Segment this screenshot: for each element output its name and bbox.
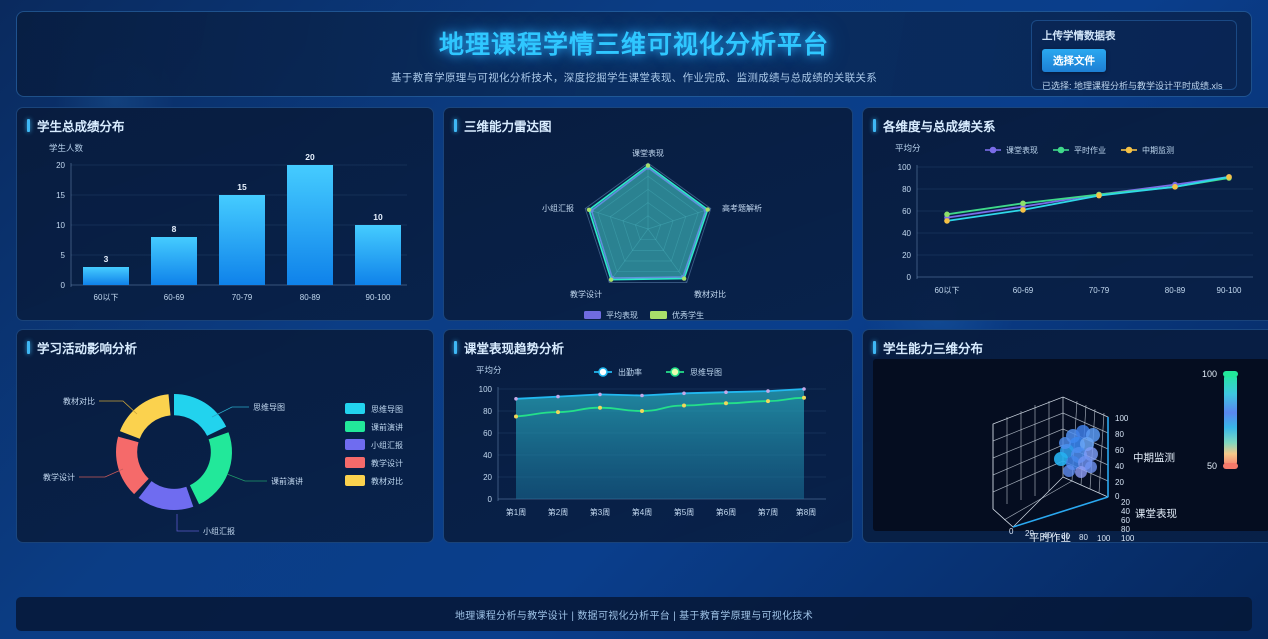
plot-scatter3d[interactable]: 100 80 60 40 20 0 20 40 60 80 100 0 20 4… <box>873 359 1268 537</box>
xcat-0: 60以下 <box>935 286 960 295</box>
upload-panel: 上传学情数据表 选择文件 已选择: 地理课程分析与教学设计平时成绩.xls <box>1031 20 1237 90</box>
legend-swatch-3 <box>345 457 365 468</box>
plot-dimension-relation[interactable]: 平均分 课堂表现 平时作业 中期监测 <box>873 137 1268 315</box>
ytick-10: 10 <box>56 221 65 230</box>
donut-segment-2[interactable] <box>139 481 194 510</box>
ytick-40: 40 <box>902 229 911 238</box>
xcat-1: 60-69 <box>164 293 185 302</box>
ztick-0: 0 <box>1115 492 1120 501</box>
xcat-2: 70-79 <box>232 293 253 302</box>
accent-bar-icon <box>454 119 457 132</box>
card-activity-impact: 学习活动影响分析 思维导图 课前演讲 <box>16 329 434 543</box>
colorbar-min-label: 50 <box>1207 461 1217 471</box>
xcat-6: 第7周 <box>758 507 778 517</box>
xcat-0: 第1周 <box>506 507 526 517</box>
legend-label-average: 平均表现 <box>606 310 638 320</box>
card-title-radar: 三维能力雷达图 <box>454 116 842 135</box>
donut-label-0: 思维导图 <box>253 402 285 412</box>
ztick-20: 20 <box>1115 478 1124 487</box>
ztick-40: 40 <box>1115 462 1124 471</box>
xcat-2: 70-79 <box>1089 286 1110 295</box>
legend-swatch-1 <box>345 421 365 432</box>
legend-label-excellent: 优秀学生 <box>672 310 704 320</box>
accent-bar-icon <box>27 341 30 354</box>
donut-label-1: 课前演讲 <box>271 476 303 486</box>
ytick-80: 80 <box>902 185 911 194</box>
xcat-3: 第4周 <box>632 507 652 517</box>
plot-grade-distribution[interactable]: 学生人数 20 15 10 5 0 <box>27 137 423 315</box>
bar-label-3: 20 <box>305 152 315 162</box>
bar-4[interactable] <box>355 225 401 285</box>
radar-legend: 平均表现 优秀学生 <box>584 310 704 320</box>
ytick-60: 60 <box>1121 516 1130 525</box>
donut-label-3: 教学设计 <box>43 472 75 482</box>
plot-trend[interactable]: 平均分 出勤率 思维导图 <box>454 359 842 537</box>
legend-label-2: 小组汇报 <box>371 440 403 450</box>
ytick-20: 20 <box>902 251 911 260</box>
xcat-4: 第5周 <box>674 507 694 517</box>
card-scatter3d: 学生能力三维分布 <box>862 329 1268 543</box>
bar-label-2: 15 <box>237 182 247 192</box>
legend-dimension: 课堂表现 平时作业 中期监测 <box>985 145 1174 155</box>
y-axis-title: 课堂表现 <box>1135 507 1177 520</box>
card-title-trend: 课堂表现趋势分析 <box>454 338 842 357</box>
ytick-20: 20 <box>483 473 492 482</box>
xcat-4: 90-100 <box>1217 286 1242 295</box>
ytick-20: 20 <box>1121 498 1130 507</box>
x-categories: 60以下 60-69 70-79 80-89 90-100 <box>94 293 391 302</box>
ztick-80: 80 <box>1115 430 1124 439</box>
legend-label-0: 课堂表现 <box>1006 145 1038 155</box>
ytick-15: 15 <box>56 191 65 200</box>
x-axis-title: 平时作业 <box>1029 532 1071 543</box>
radar-series-excellent <box>587 163 710 282</box>
donut-segment-1[interactable] <box>190 432 232 504</box>
y-axis-label: 学生人数 <box>49 143 84 153</box>
bar-3[interactable] <box>287 165 333 285</box>
legend-trend: 出勤率 思维导图 <box>594 367 722 377</box>
legend-label-0: 思维导图 <box>371 404 403 414</box>
legend-label-0: 出勤率 <box>618 367 642 377</box>
ytick-100: 100 <box>898 163 912 172</box>
xtick-0: 0 <box>1009 527 1014 536</box>
legend-marker-0 <box>990 147 997 154</box>
bar-label-4: 10 <box>373 212 383 222</box>
bar-label-0: 3 <box>104 254 109 264</box>
donut-label-2: 小组汇报 <box>203 526 235 536</box>
legend-marker-1 <box>1058 147 1065 154</box>
card-dimension-relation: 各维度与总成绩关系 平均分 课堂表现 平时作业 中期监测 <box>862 107 1268 321</box>
radar-axis-3: 教学设计 <box>570 289 602 299</box>
dashboard-page: 地理课程学情三维可视化分析平台 基于教育学原理与可视化分析技术，深度挖掘学生课堂… <box>0 0 1268 639</box>
radar-axis-2: 教材对比 <box>694 289 726 299</box>
bar-2[interactable] <box>219 195 265 285</box>
card-grade-distribution: 学生总成绩分布 学生人数 20 15 10 5 <box>16 107 434 321</box>
selected-file-text: 已选择: 地理课程分析与教学设计平时成绩.xls <box>1042 79 1226 92</box>
area-fill <box>516 389 804 499</box>
card-title-grade-distribution: 学生总成绩分布 <box>27 116 423 135</box>
donut-segment-0[interactable] <box>174 394 226 436</box>
page-footer: 地理课程分析与教学设计 | 数据可视化分析平台 | 基于教育学原理与可视化技术 <box>16 597 1252 631</box>
xcat-5: 第6周 <box>716 507 736 517</box>
radar-axis-0: 课堂表现 <box>632 148 664 158</box>
card-title-activity-impact: 学习活动影响分析 <box>27 338 423 357</box>
xcat-7: 第8周 <box>796 507 816 517</box>
card-title-text: 三维能力雷达图 <box>464 116 552 135</box>
ytick-100: 100 <box>1121 534 1135 543</box>
legend-label-3: 教学设计 <box>371 458 403 468</box>
ytick-100: 100 <box>479 385 493 394</box>
accent-bar-icon <box>27 119 30 132</box>
card-title-text: 学生能力三维分布 <box>883 338 983 357</box>
donut-segment-4[interactable] <box>120 394 171 438</box>
y-axis-label: 平均分 <box>476 365 502 375</box>
ytick-80: 80 <box>1121 525 1130 534</box>
charts-grid: 学生总成绩分布 学生人数 20 15 10 5 <box>16 107 1252 543</box>
legend-label-1: 平时作业 <box>1074 145 1106 155</box>
ztick-60: 60 <box>1115 446 1124 455</box>
xcat-1: 60-69 <box>1013 286 1034 295</box>
plot-radar[interactable]: 课堂表现 高考题解析 教材对比 教学设计 小组汇报 平均表现 优秀学生 <box>454 137 842 315</box>
legend-swatch-0 <box>345 403 365 414</box>
ztick-100: 100 <box>1115 414 1129 423</box>
legend-label-1: 思维导图 <box>690 367 722 377</box>
radar-axis-1: 高考题解析 <box>722 203 762 213</box>
card-radar: 三维能力雷达图 <box>443 107 853 321</box>
line-series-midterm <box>944 174 1232 224</box>
xcat-0: 60以下 <box>94 293 119 302</box>
card-title-text: 学习活动影响分析 <box>37 338 137 357</box>
bar-1[interactable] <box>151 237 197 285</box>
legend-swatch-4 <box>345 475 365 486</box>
legend-label-1: 课前演讲 <box>371 422 403 432</box>
card-title-text: 学生总成绩分布 <box>37 116 125 135</box>
ytick-80: 80 <box>483 407 492 416</box>
legend-label-2: 中期监测 <box>1142 145 1174 155</box>
y-axis-label: 平均分 <box>895 143 921 153</box>
xcat-4: 90-100 <box>366 293 391 302</box>
legend-label-4: 教材对比 <box>371 476 403 486</box>
ytick-60: 60 <box>902 207 911 216</box>
upload-panel-label: 上传学情数据表 <box>1042 28 1226 43</box>
legend-marker-0 <box>599 368 607 376</box>
xcat-1: 第2周 <box>548 507 568 517</box>
ytick-5: 5 <box>61 251 66 260</box>
ytick-40: 40 <box>483 451 492 460</box>
card-title-text: 课堂表现趋势分析 <box>464 338 564 357</box>
legend-swatch-average <box>584 311 601 319</box>
bar-label-1: 8 <box>172 224 177 234</box>
donut-leader-lines: 思维导图 课前演讲 小组汇报 教学设计 教材对比 <box>43 396 303 536</box>
xcat-2: 第3周 <box>590 507 610 517</box>
accent-bar-icon <box>873 341 876 354</box>
app-header: 地理课程学情三维可视化分析平台 基于教育学原理与可视化分析技术，深度挖掘学生课堂… <box>16 11 1252 97</box>
plot-activity-impact[interactable]: 思维导图 课前演讲 小组汇报 教学设计 教材对比 思维导图 <box>27 359 423 537</box>
footer-text: 地理课程分析与教学设计 | 数据可视化分析平台 | 基于教育学原理与可视化技术 <box>455 607 813 622</box>
ytick-0: 0 <box>61 281 66 290</box>
ytick-60: 60 <box>483 429 492 438</box>
legend-swatch-excellent <box>650 311 667 319</box>
x-categories: 60以下 60-69 70-79 80-89 90-100 <box>935 286 1242 295</box>
ytick-0: 0 <box>907 273 912 282</box>
card-title-scatter3d: 学生能力三维分布 <box>873 338 1268 357</box>
bar-0[interactable] <box>83 267 129 285</box>
ytick-40: 40 <box>1121 507 1130 516</box>
card-trend: 课堂表现趋势分析 平均分 出勤率 <box>443 329 853 543</box>
donut-segments <box>116 394 232 510</box>
x-categories: 第1周 第2周 第3周 第4周 第5周 第6周 第7周 第8周 <box>506 507 816 517</box>
xtick-80: 80 <box>1079 533 1088 542</box>
card-title-text: 各维度与总成绩关系 <box>883 116 996 135</box>
xtick-100: 100 <box>1097 534 1111 543</box>
choose-file-button[interactable]: 选择文件 <box>1042 49 1106 72</box>
accent-bar-icon <box>454 341 457 354</box>
radar-axis-4: 小组汇报 <box>542 203 574 213</box>
donut-legend: 思维导图 课前演讲 小组汇报 教学设计 教材对比 <box>345 403 403 486</box>
ytick-0: 0 <box>488 495 493 504</box>
legend-swatch-2 <box>345 439 365 450</box>
legend-marker-1 <box>671 368 679 376</box>
accent-bar-icon <box>873 119 876 132</box>
legend-marker-2 <box>1126 147 1133 154</box>
xcat-3: 80-89 <box>300 293 321 302</box>
donut-segment-3[interactable] <box>116 437 149 495</box>
colorbar-max-label: 100 <box>1202 369 1217 379</box>
donut-label-4: 教材对比 <box>63 396 95 406</box>
z-axis-title: 中期监测 <box>1133 451 1175 464</box>
ytick-20: 20 <box>56 161 65 170</box>
card-title-dimension-relation: 各维度与总成绩关系 <box>873 116 1268 135</box>
xcat-3: 80-89 <box>1165 286 1186 295</box>
